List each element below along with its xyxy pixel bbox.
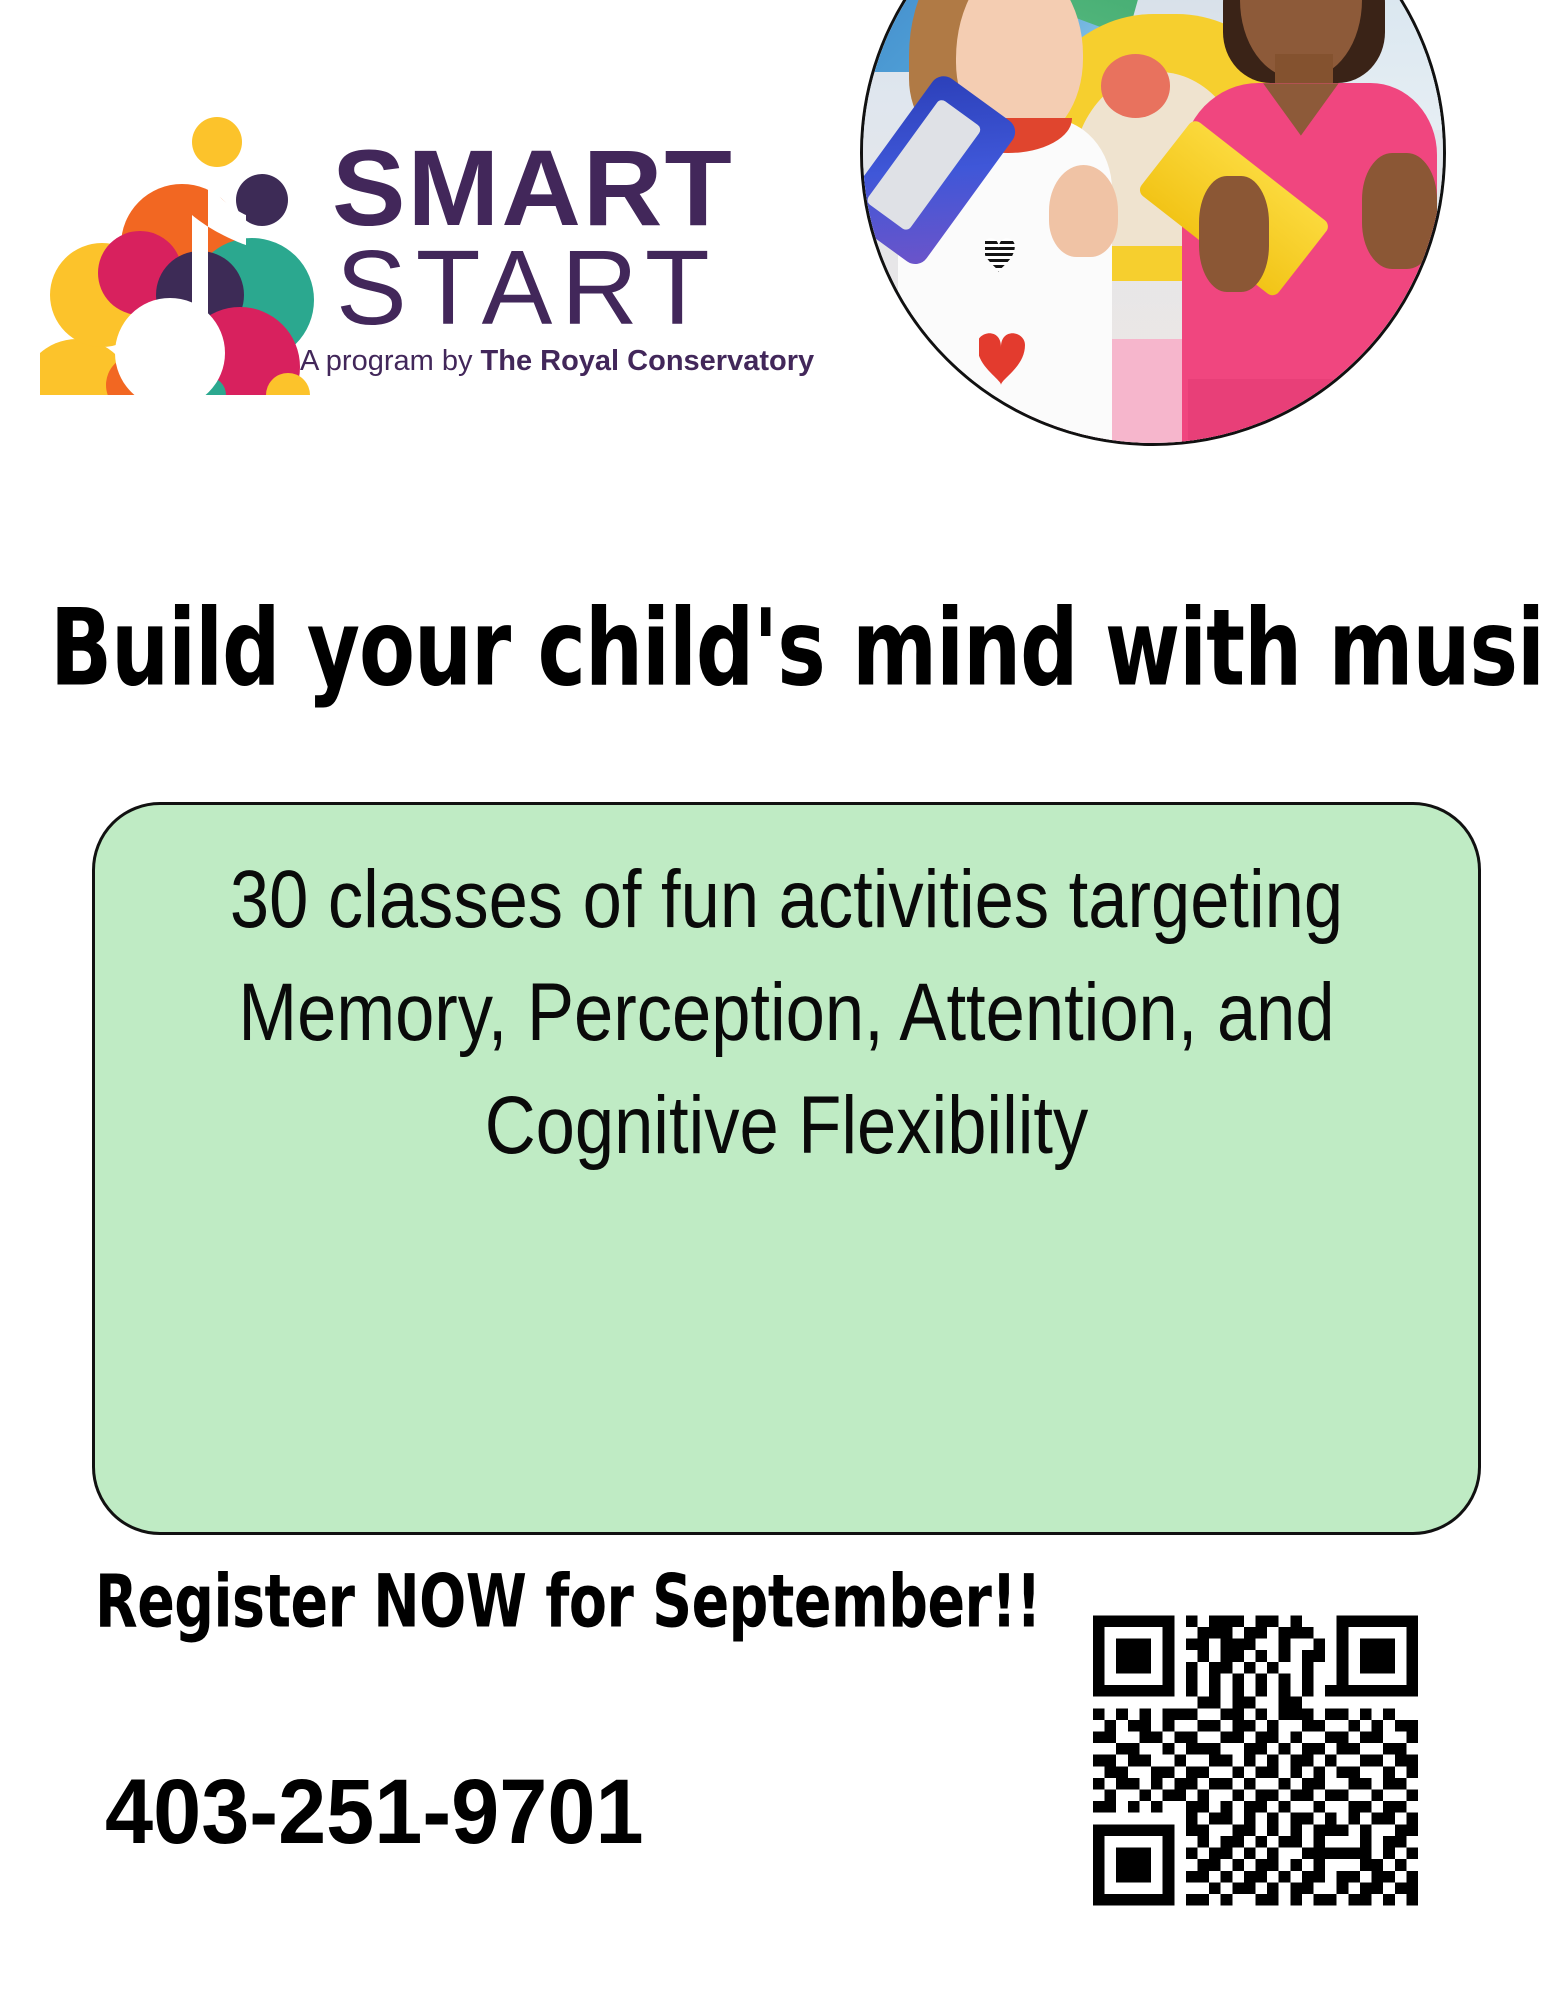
tagline-brand: The Royal Conservatory [481, 345, 815, 377]
music-note-dots-icon [40, 95, 320, 395]
highlight-box-text: 30 classes of fun activities targeting M… [226, 843, 1347, 1182]
logo-word-smart: SMART [332, 140, 888, 235]
logo-tagline: A program by The Royal Conservatory [300, 345, 814, 378]
highlight-box: 30 classes of fun activities targeting M… [92, 802, 1481, 1535]
call-to-action: Register NOW for September!! [95, 1560, 1041, 1645]
photo-illustration [863, 0, 1443, 443]
phone-number: 403-251-9701 [105, 1760, 644, 1865]
tagline-prefix: A program by [300, 345, 481, 377]
logo-wordmark: SMART START [332, 140, 877, 341]
qr-code[interactable] [1093, 1598, 1418, 1923]
headline: Build your child's mind with music! [50, 595, 1457, 701]
poster-root: SMART START A program by The Royal Conse… [0, 0, 1545, 2000]
children-photo [860, 0, 1446, 446]
logo-word-start: START [332, 235, 877, 341]
